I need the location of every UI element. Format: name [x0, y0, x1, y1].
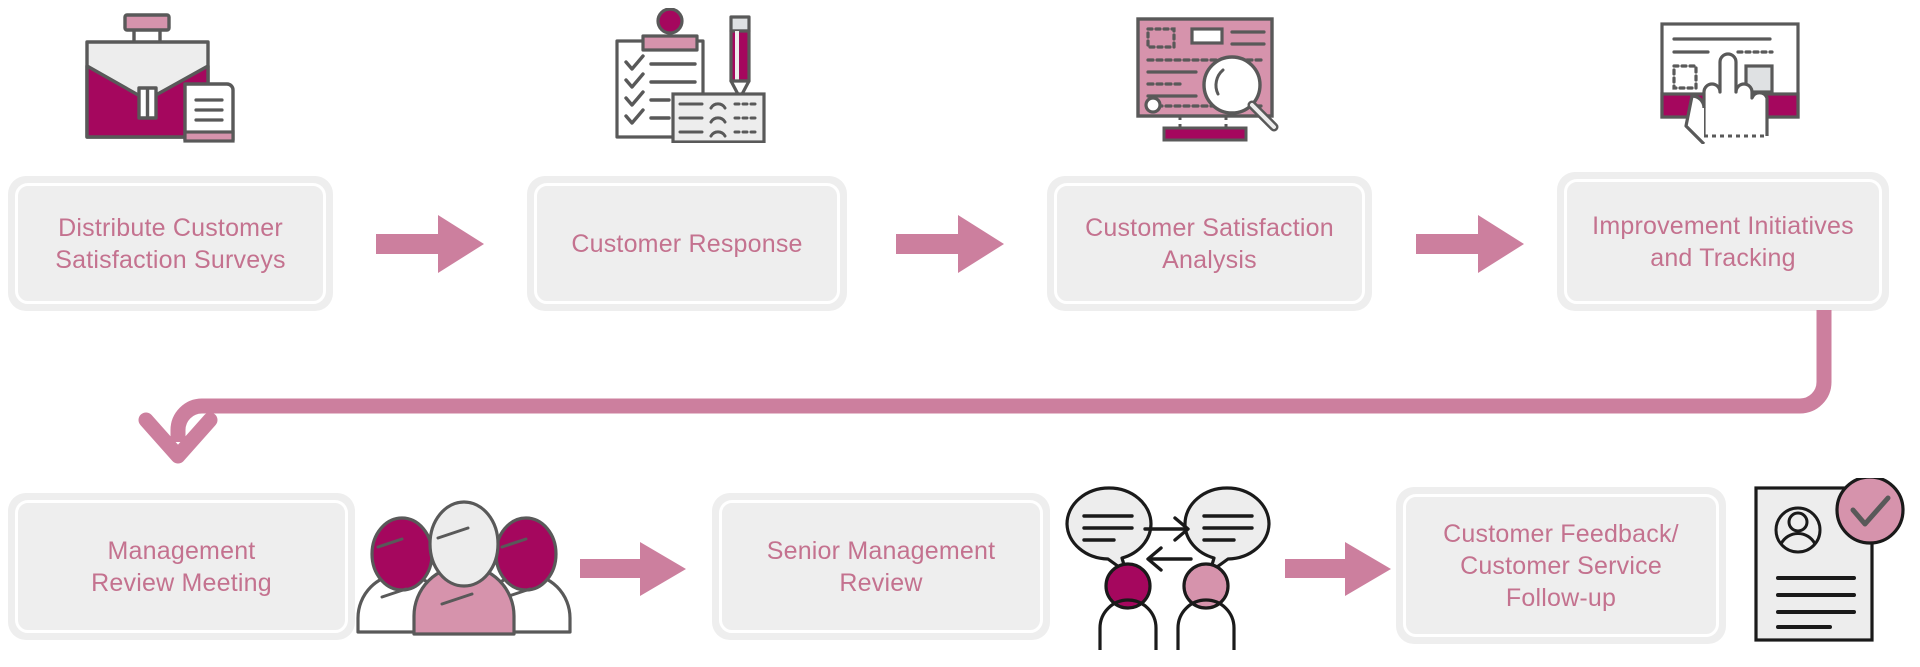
step-box-distribute-surveys[interactable]: Distribute Customer Satisfaction Surveys — [8, 176, 333, 311]
step-label: Management Review Meeting — [79, 535, 284, 599]
step-box-improvement-tracking[interactable]: Improvement Initiatives and Tracking — [1557, 172, 1889, 311]
step-box-management-review-meeting[interactable]: Management Review Meeting — [8, 493, 355, 640]
step-label: Customer Response — [559, 228, 814, 260]
arrow-right-icon-1 — [376, 213, 486, 275]
step-label: Senior Management Review — [755, 535, 1008, 599]
step-inner: Improvement Initiatives and Tracking — [1564, 179, 1882, 304]
data-screen-magnifier-icon — [1122, 12, 1292, 142]
arrow-right-icon-3 — [1416, 213, 1526, 275]
step-label: Customer Feedback/ Customer Service Foll… — [1431, 518, 1691, 614]
step-label: Customer Satisfaction Analysis — [1073, 212, 1346, 276]
step-inner: Customer Response — [534, 183, 840, 304]
step-label: Improvement Initiatives and Tracking — [1580, 210, 1866, 274]
arrow-right-icon-4 — [580, 540, 688, 598]
step-box-senior-management-review[interactable]: Senior Management Review — [712, 493, 1050, 640]
three-people-group-icon — [352, 492, 576, 640]
clipboard-checklist-pencil-icon — [607, 8, 767, 143]
step-inner: Senior Management Review — [719, 500, 1043, 633]
step-box-satisfaction-analysis[interactable]: Customer Satisfaction Analysis — [1047, 176, 1372, 311]
speech-bubbles-exchange-icon — [1062, 482, 1274, 650]
screen-pointing-hand-icon — [1648, 16, 1818, 144]
step-label: Distribute Customer Satisfaction Surveys — [43, 212, 298, 276]
step-inner: Customer Satisfaction Analysis — [1054, 183, 1365, 304]
step-inner: Management Review Meeting — [15, 500, 348, 633]
arrow-right-icon-2 — [896, 213, 1006, 275]
step-box-feedback-followup[interactable]: Customer Feedback/ Customer Service Foll… — [1396, 487, 1726, 644]
briefcase-documents-icon — [68, 8, 248, 143]
step-box-customer-response[interactable]: Customer Response — [527, 176, 847, 311]
arrow-right-icon-5 — [1285, 540, 1393, 598]
document-verified-check-icon — [1748, 478, 1912, 664]
step-inner: Distribute Customer Satisfaction Surveys — [15, 183, 326, 304]
step-inner: Customer Feedback/ Customer Service Foll… — [1403, 494, 1719, 637]
flowchart-canvas: Distribute Customer Satisfaction Surveys… — [0, 0, 1920, 667]
serpentine-connector-arrow — [120, 310, 1850, 470]
